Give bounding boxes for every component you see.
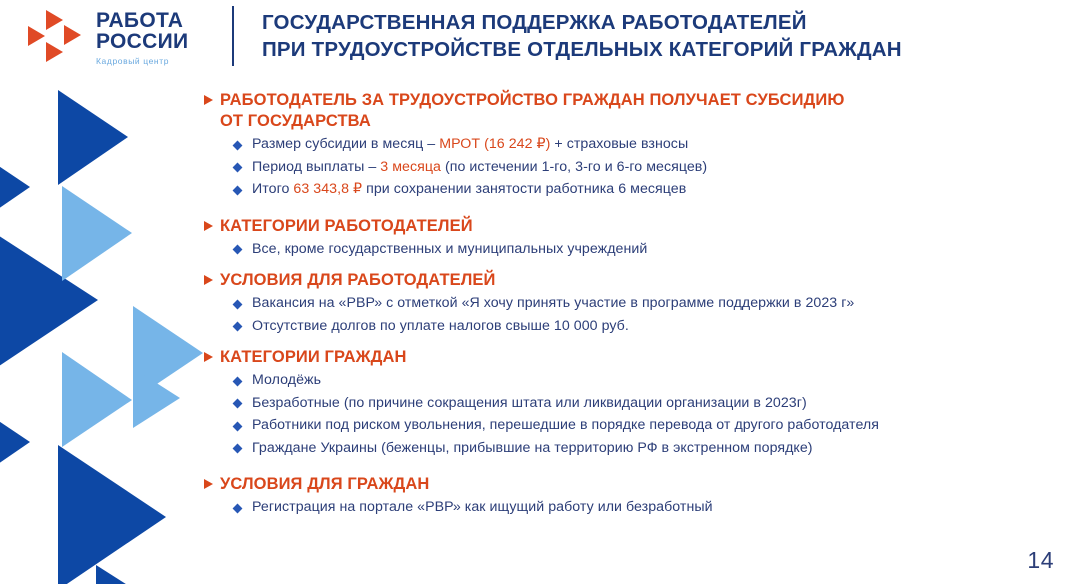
deco-triangle-dark (0, 140, 30, 235)
triangle-right-icon (204, 352, 213, 362)
bullet-item: Период выплаты – 3 месяца (по истечении … (234, 157, 1064, 179)
content-section: РАБОТОДАТЕЛЬ ЗА ТРУДОУСТРОЙСТВО ГРАЖДАН … (204, 90, 1064, 214)
brand-logo[interactable]: РАБОТА РОССИИ Кадровый центр (28, 6, 228, 74)
page-title-line1: ГОСУДАРСТВЕННАЯ ПОДДЕРЖКА РАБОТОДАТЕЛЕЙ (262, 9, 1052, 36)
diamond-bullet-icon (233, 399, 243, 409)
bullet-text: Граждане Украины (беженцы, прибывшие на … (252, 440, 813, 456)
content-section: УСЛОВИЯ ДЛЯ ГРАЖДАНРегистрация на портал… (204, 474, 1064, 527)
bullet-item: Вакансия на «РВР» с отметкой «Я хочу при… (234, 293, 1064, 315)
deco-triangle-light (62, 186, 132, 281)
bullet-list: Все, кроме государственных и муниципальн… (204, 239, 1064, 261)
diamond-bullet-icon (233, 503, 243, 513)
deco-triangle-dark (58, 445, 166, 584)
bullet-item: Размер субсидии в месяц – МРОТ (16 242 ₽… (234, 134, 1064, 156)
page-title: ГОСУДАРСТВЕННАЯ ПОДДЕРЖКА РАБОТОДАТЕЛЕЙ … (262, 9, 1052, 63)
bullet-text: Размер субсидии в месяц – (252, 136, 439, 152)
section-gap (204, 338, 1064, 345)
bullet-list: МолодёжьБезработные (по причине сокращен… (204, 370, 1064, 459)
bullet-text: Отсутствие долгов по уплате налогов свыш… (252, 318, 629, 334)
deco-triangle-light (133, 306, 203, 400)
bullet-text: при сохранении занятости работника 6 мес… (362, 181, 686, 197)
section-heading-line1: УСЛОВИЯ ДЛЯ ГРАЖДАН (220, 474, 1064, 495)
deco-triangle-dark (96, 565, 140, 584)
diamond-bullet-icon (233, 299, 243, 309)
section-heading-line1: РАБОТОДАТЕЛЬ ЗА ТРУДОУСТРОЙСТВО ГРАЖДАН … (220, 90, 1064, 111)
bullet-text: + страховые взносы (550, 136, 688, 152)
section-heading-line2: ОТ ГОСУДАРСТВА (220, 111, 1064, 132)
section-heading-line1: КАТЕГОРИИ РАБОТОДАТЕЛЕЙ (220, 216, 1064, 237)
bullet-item: Безработные (по причине сокращения штата… (234, 393, 1064, 415)
bullet-item: Молодёжь (234, 370, 1064, 392)
bullet-text: Регистрация на портале «РВР» как ищущий … (252, 499, 713, 515)
diamond-bullet-icon (233, 322, 243, 332)
diamond-bullet-icon (233, 185, 243, 195)
deco-triangle-light (133, 368, 180, 428)
deco-triangle-dark (0, 230, 98, 372)
deco-triangle-dark (0, 395, 30, 490)
logo-title-line2: РОССИИ (96, 31, 236, 52)
section-gap (204, 460, 1064, 472)
content-section: КАТЕГОРИИ РАБОТОДАТЕЛЕЙВсе, кроме госуда… (204, 216, 1064, 269)
diamond-bullet-icon (233, 376, 243, 386)
section-gap (204, 520, 1064, 527)
deco-triangle-light (62, 352, 132, 447)
bullet-highlight-text: 3 месяца (380, 159, 441, 175)
bullet-text: Работники под риском увольнения, перешед… (252, 417, 879, 433)
bullet-highlight-text: МРОТ (16 242 ₽) (439, 136, 550, 152)
slide-root: РАБОТА РОССИИ Кадровый центр ГОСУДАРСТВЕ… (0, 0, 1080, 584)
bullet-list: Регистрация на портале «РВР» как ищущий … (204, 497, 1064, 519)
bullet-item: Отсутствие долгов по уплате налогов свыш… (234, 316, 1064, 338)
bullet-text: Безработные (по причине сокращения штата… (252, 395, 807, 411)
section-heading-line1: КАТЕГОРИИ ГРАЖДАН (220, 347, 1064, 368)
diamond-bullet-icon (233, 163, 243, 173)
logo-subtitle: Кадровый центр (96, 56, 236, 66)
bullet-item: Итого 63 343,8 ₽ при сохранении занятост… (234, 179, 1064, 201)
bullet-list: Размер субсидии в месяц – МРОТ (16 242 ₽… (204, 134, 1064, 201)
bullet-text: Все, кроме государственных и муниципальн… (252, 241, 647, 257)
header-divider (232, 6, 234, 66)
deco-triangle-dark (0, 232, 48, 375)
triangle-right-icon (204, 479, 213, 489)
diamond-bullet-icon (233, 444, 243, 454)
section-gap (204, 261, 1064, 268)
section-gap (204, 202, 1064, 214)
four-triangles-logo-mark-icon (28, 8, 90, 68)
section-heading: УСЛОВИЯ ДЛЯ РАБОТОДАТЕЛЕЙ (204, 270, 1064, 291)
section-heading: КАТЕГОРИИ ГРАЖДАН (204, 347, 1064, 368)
triangle-right-icon (204, 221, 213, 231)
triangle-right-icon (204, 95, 213, 105)
bullet-text: Вакансия на «РВР» с отметкой «Я хочу при… (252, 295, 854, 311)
page-title-line2: ПРИ ТРУДОУСТРОЙСТВЕ ОТДЕЛЬНЫХ КАТЕГОРИЙ … (262, 36, 1052, 63)
bullet-text: Итого (252, 181, 293, 197)
bullet-item: Работники под риском увольнения, перешед… (234, 415, 1064, 437)
slide-header: РАБОТА РОССИИ Кадровый центр ГОСУДАРСТВЕ… (0, 0, 1080, 78)
triangle-right-icon (204, 275, 213, 285)
content-body: РАБОТОДАТЕЛЬ ЗА ТРУДОУСТРОЙСТВО ГРАЖДАН … (204, 90, 1064, 529)
bullet-item: Регистрация на портале «РВР» как ищущий … (234, 497, 1064, 519)
bullet-item: Все, кроме государственных и муниципальн… (234, 239, 1064, 261)
section-heading-line1: УСЛОВИЯ ДЛЯ РАБОТОДАТЕЛЕЙ (220, 270, 1064, 291)
bullet-text: (по истечении 1-го, 3-го и 6-го месяцев) (441, 159, 707, 175)
deco-triangle-dark (58, 90, 128, 185)
content-section: КАТЕГОРИИ ГРАЖДАНМолодёжьБезработные (по… (204, 347, 1064, 472)
bullet-list: Вакансия на «РВР» с отметкой «Я хочу при… (204, 293, 1064, 337)
bullet-text: Молодёжь (252, 372, 321, 388)
bullet-item: Граждане Украины (беженцы, прибывшие на … (234, 438, 1064, 460)
diamond-bullet-icon (233, 245, 243, 255)
section-heading: УСЛОВИЯ ДЛЯ ГРАЖДАН (204, 474, 1064, 495)
decorative-triangle-pattern (0, 0, 232, 584)
diamond-bullet-icon (233, 421, 243, 431)
content-section: УСЛОВИЯ ДЛЯ РАБОТОДАТЕЛЕЙВакансия на «РВ… (204, 270, 1064, 345)
section-heading: КАТЕГОРИИ РАБОТОДАТЕЛЕЙ (204, 216, 1064, 237)
section-heading: РАБОТОДАТЕЛЬ ЗА ТРУДОУСТРОЙСТВО ГРАЖДАН … (204, 90, 1064, 132)
bullet-text: Период выплаты – (252, 159, 380, 175)
diamond-bullet-icon (233, 140, 243, 150)
page-number: 14 (1027, 547, 1054, 574)
bullet-highlight-text: 63 343,8 ₽ (293, 181, 362, 197)
logo-title-line1: РАБОТА (96, 10, 236, 31)
